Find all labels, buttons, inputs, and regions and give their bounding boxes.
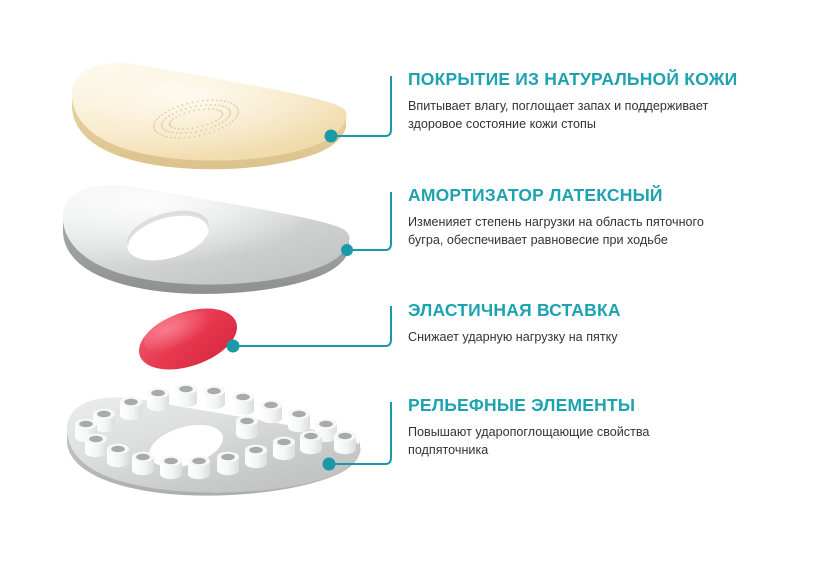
- callout-elastic: ЭЛАСТИЧНАЯ ВСТАВКА Снижает ударную нагру…: [408, 301, 748, 347]
- connector-dot-latex: [341, 244, 353, 256]
- connector-dot-leather: [325, 130, 338, 143]
- relief-bump: [188, 456, 210, 479]
- relief-bump: [160, 456, 182, 479]
- callout-body-line: Изменияет степень нагрузки на область пя…: [408, 214, 748, 232]
- relief-bump: [300, 431, 322, 454]
- connector-line-elastic: [233, 306, 391, 346]
- callout-body-latex: Изменияет степень нагрузки на область пя…: [408, 214, 748, 250]
- callout-body-line: здоровое состояние кожи стопы: [408, 116, 748, 134]
- callout-body-elastic: Снижает ударную нагрузку на пятку: [408, 329, 748, 347]
- callout-title-latex: АМОРТИЗАТОР ЛАТЕКСНЫЙ: [408, 186, 748, 205]
- callout-body-line: Снижает ударную нагрузку на пятку: [408, 329, 748, 347]
- relief-bump: [203, 386, 225, 409]
- layer-leather: [72, 63, 347, 169]
- connector-dot-relief: [323, 458, 336, 471]
- relief-bump: [260, 400, 282, 423]
- relief-bump: [288, 409, 310, 432]
- relief-bump: [217, 452, 239, 475]
- relief-bump: [175, 384, 197, 407]
- callout-relief: РЕЛЬЕФНЫЕ ЭЛЕМЕНТЫ Повышают ударопоглоща…: [408, 396, 748, 460]
- relief-bump: [334, 431, 356, 454]
- layer-relief: [67, 384, 361, 496]
- callout-latex: АМОРТИЗАТОР ЛАТЕКСНЫЙ Изменияет степень …: [408, 186, 748, 250]
- callout-body-leather: Впитывает влагу, поглощает запах и подде…: [408, 98, 748, 134]
- relief-bump: [107, 444, 129, 467]
- relief-bump: [147, 388, 169, 411]
- connector-line-latex: [347, 192, 391, 250]
- relief-bump: [85, 434, 107, 457]
- layer-latex: [63, 185, 350, 294]
- callout-title-relief: РЕЛЬЕФНЫЕ ЭЛЕМЕНТЫ: [408, 396, 748, 415]
- callout-body-relief: Повышают ударопоглощающие свойства подпя…: [408, 424, 748, 460]
- callout-body-line: бугра, обеспечивает равновесие при ходьб…: [408, 232, 748, 250]
- callout-body-line: подпяточника: [408, 442, 748, 460]
- infographic-canvas: ПОКРЫТИЕ ИЗ НАТУРАЛЬНОЙ КОЖИ Впитывает в…: [0, 0, 816, 564]
- relief-bump: [120, 397, 142, 420]
- connector-dot-elastic: [227, 340, 240, 353]
- callout-body-line: Повышают ударопоглощающие свойства: [408, 424, 748, 442]
- relief-bump: [236, 416, 258, 439]
- callout-title-leather: ПОКРЫТИЕ ИЗ НАТУРАЛЬНОЙ КОЖИ: [408, 70, 748, 89]
- callout-leather: ПОКРЫТИЕ ИЗ НАТУРАЛЬНОЙ КОЖИ Впитывает в…: [408, 70, 748, 134]
- layer-elastic-insert: [131, 297, 245, 381]
- relief-bump: [232, 392, 254, 415]
- relief-bump: [245, 445, 267, 468]
- relief-bump: [273, 437, 295, 460]
- relief-bump: [132, 452, 154, 475]
- callout-body-line: Впитывает влагу, поглощает запах и подде…: [408, 98, 748, 116]
- callout-title-elastic: ЭЛАСТИЧНАЯ ВСТАВКА: [408, 301, 748, 320]
